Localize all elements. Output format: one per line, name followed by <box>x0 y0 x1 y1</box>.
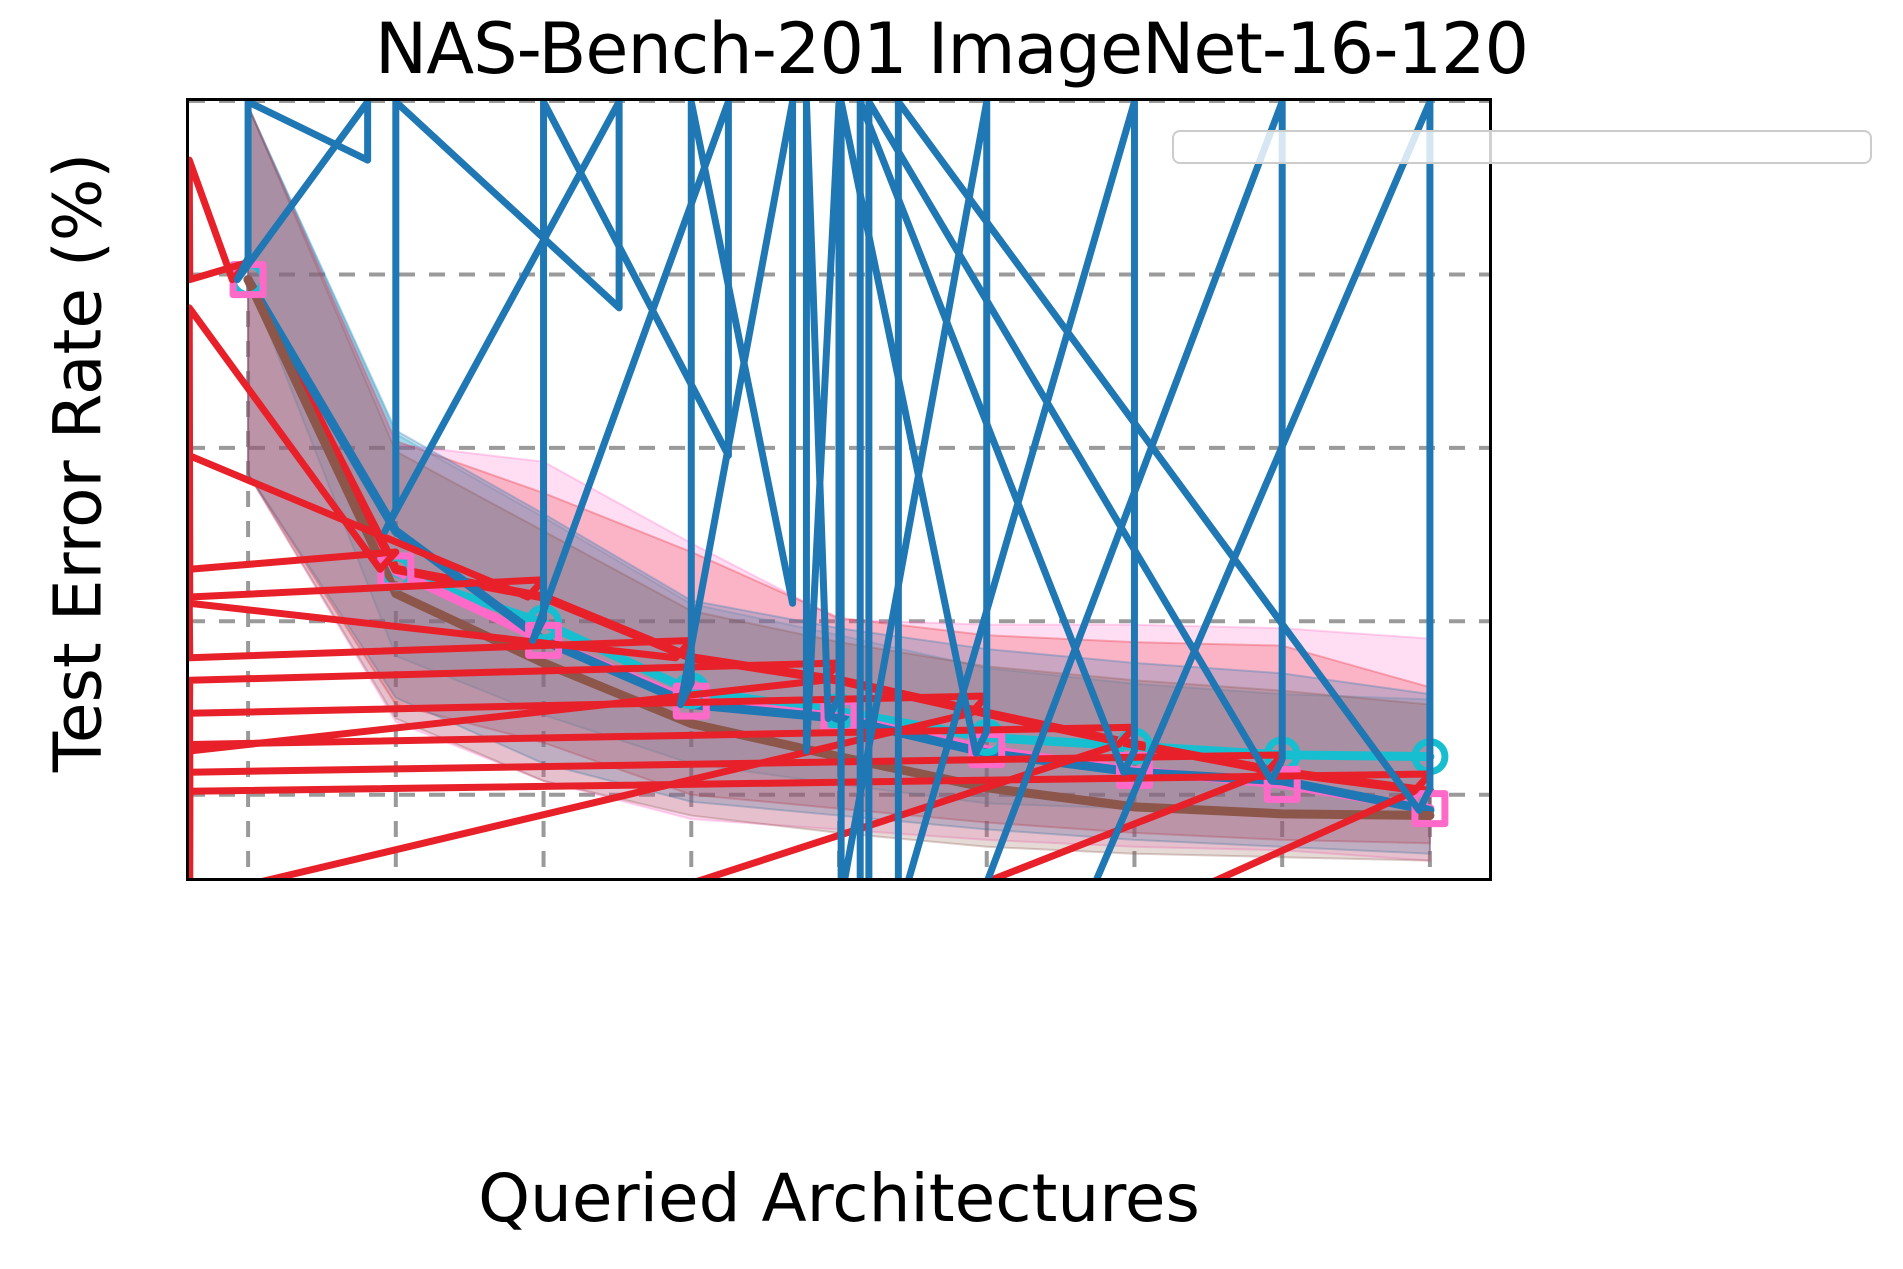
y-axis-ticks <box>0 98 172 881</box>
figure: NAS-Bench-201 ImageNet-16-120 Test Error… <box>0 0 1903 1269</box>
chart-svg <box>189 101 1489 878</box>
data-point-marker-triangle <box>189 160 248 280</box>
plot-area <box>186 98 1492 881</box>
plot-area-wrapper <box>186 98 1492 881</box>
x-axis-ticks <box>186 881 1492 1001</box>
chart-title: NAS-Bench-201 ImageNet-16-120 <box>0 8 1903 90</box>
x-axis-label: Queried Architectures <box>186 1160 1492 1237</box>
chart-legend <box>1172 130 1872 164</box>
